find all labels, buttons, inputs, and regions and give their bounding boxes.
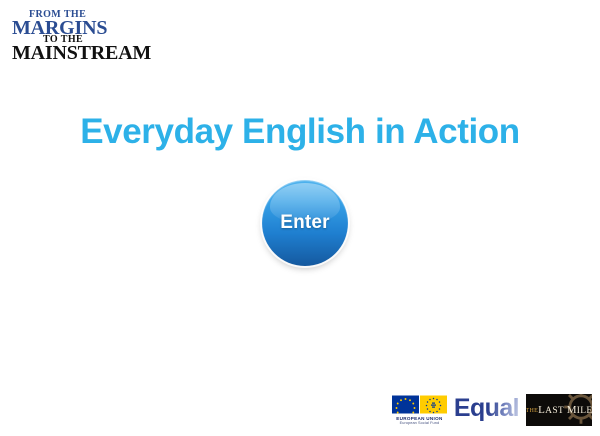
footer-logos: EUROPEAN UNION European Social Fund Equa…: [392, 394, 592, 426]
enter-button[interactable]: Enter: [262, 180, 348, 266]
eu-flag-icon: [392, 395, 419, 414]
last-mile-the: THE: [526, 408, 538, 414]
splash-screen: .pc-a { fill: #8FD9EC; } .pc-b { fill: #…: [0, 0, 600, 436]
page-title: Everyday English in Action: [0, 112, 600, 152]
eu-caption-sub: European Social Fund: [400, 421, 440, 425]
logo-line-mainstream: MAINSTREAM: [12, 43, 151, 63]
brand-logo: FROM THE MARGINS TO THE MAINSTREAM: [12, 10, 151, 63]
last-mile-ile: ILE: [577, 406, 592, 416]
equal-logo: Equal: [454, 396, 519, 424]
last-mile-ast: AST: [545, 406, 564, 416]
european-union-logo: EUROPEAN UNION European Social Fund: [392, 395, 447, 425]
eu-caption-main: EUROPEAN UNION: [396, 416, 442, 421]
last-mile-logo: THELAST MILE: [526, 394, 592, 426]
last-mile-wordmark: THELAST MILE: [526, 404, 592, 416]
esf-emblem-icon: [420, 395, 447, 414]
eu-flags: [392, 395, 447, 414]
last-mile-m: M: [567, 404, 577, 416]
enter-button-label: Enter: [280, 212, 330, 233]
